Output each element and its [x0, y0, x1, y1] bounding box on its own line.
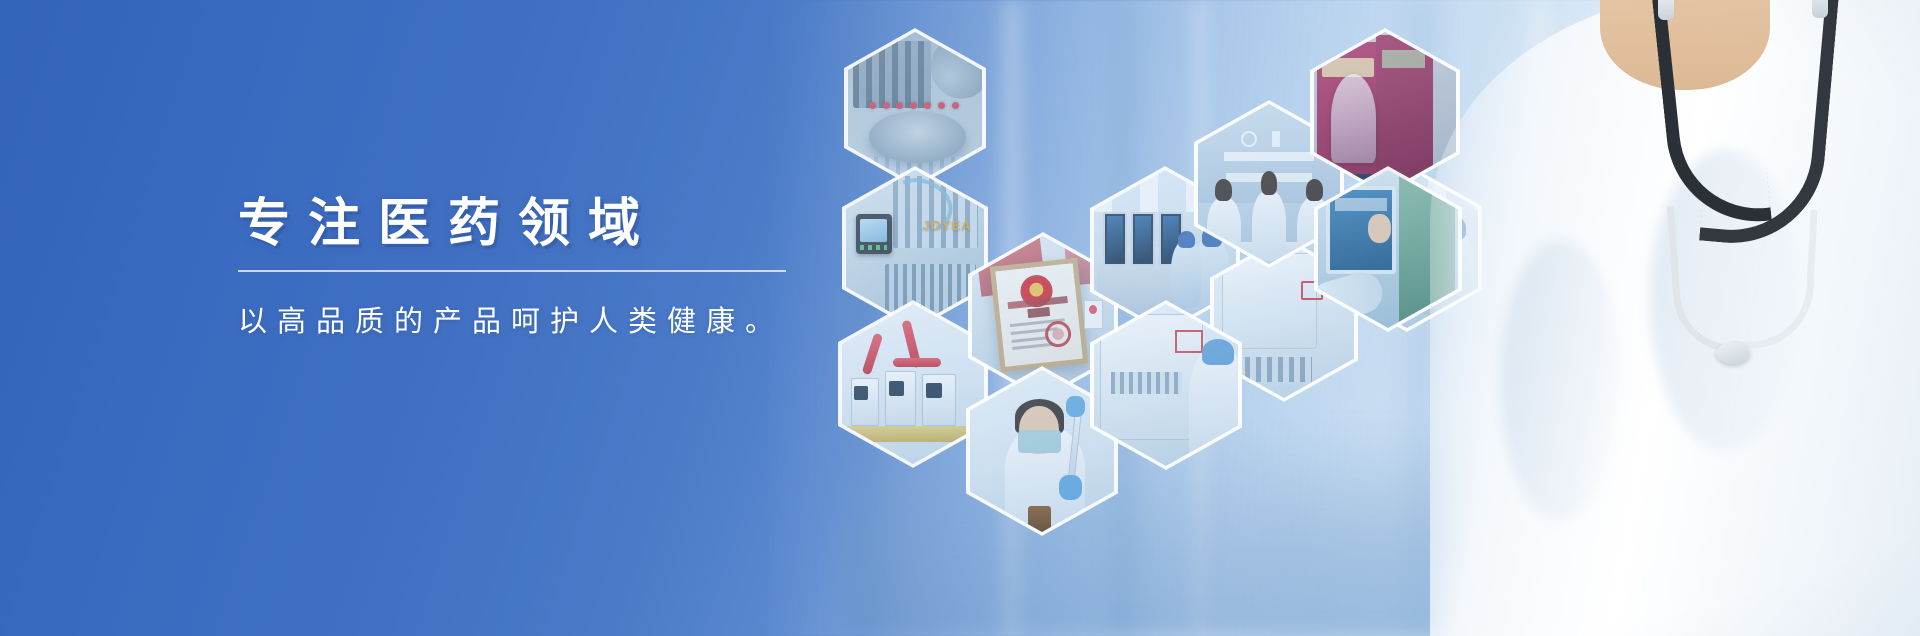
certificate-subtitle-line [1027, 307, 1050, 318]
lab-instrument [885, 371, 916, 425]
certificate-document [989, 257, 1088, 371]
vial-caps [867, 102, 966, 114]
monitor-icon [1131, 212, 1155, 266]
stethoscope-cord-left [1667, 202, 1741, 356]
machine-arm [925, 33, 982, 104]
lab-instrument [851, 378, 879, 426]
certificate-text-line [1012, 336, 1048, 343]
lab-fume-arm [893, 358, 941, 367]
hero-banner: 专注医药领域 以高品质的产品呵护人类健康。 [0, 0, 1920, 636]
hmi-panel [856, 214, 892, 255]
hexagon-filling-machine[interactable] [844, 28, 986, 188]
hexagon-gc-lab[interactable] [838, 300, 988, 468]
monitor-icon [1103, 212, 1127, 266]
stethoscope-cord-right [1732, 206, 1817, 352]
operator-figure [1171, 240, 1202, 307]
warning-label [1175, 330, 1204, 353]
inspector-figure [1189, 346, 1238, 463]
sample-box [1084, 300, 1102, 329]
wall-title-line [1224, 152, 1315, 161]
machine-brand-label: JOYEA [923, 218, 972, 233]
lab-instrument [922, 374, 956, 425]
glove-icon [1059, 475, 1082, 499]
stethoscope-icon [1560, 0, 1880, 414]
stethoscope-earpiece [1658, 0, 1674, 20]
researcher-figure [1252, 190, 1286, 260]
lab-fume-arm [861, 332, 882, 374]
stethoscope-chestpiece [1716, 342, 1750, 364]
stethoscope-earpiece [1812, 0, 1828, 18]
doctor-figure [1360, 0, 1920, 636]
university-logo-icon [1241, 131, 1257, 147]
face-mask-icon [1018, 430, 1061, 453]
glove-icon [1066, 396, 1085, 417]
